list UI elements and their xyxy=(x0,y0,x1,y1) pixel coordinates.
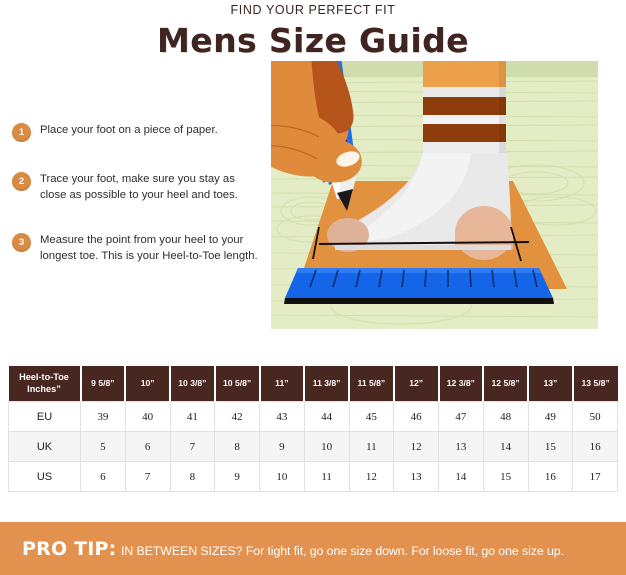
size-guide-page: FIND YOUR PERFECT FIT Mens Size Guide 1 … xyxy=(0,0,626,575)
table-header-cell: 9 5/8” xyxy=(81,366,126,402)
table-body: EU 39 40 41 42 43 44 45 46 47 48 49 50 U… xyxy=(9,402,618,492)
table-cell: 14 xyxy=(439,462,484,492)
size-table: Heel-to-Toe Inches” 9 5/8” 10” 10 3/8” 1… xyxy=(8,366,618,492)
table-cell: 9 xyxy=(260,432,305,462)
instruction-steps: 1 Place your foot on a piece of paper. 2… xyxy=(12,122,262,293)
table-cell: 11 xyxy=(304,462,349,492)
table-cell: 16 xyxy=(573,432,618,462)
pro-tip-label: PRO TIP: xyxy=(22,538,116,560)
table-header-cell: 13 5/8” xyxy=(573,366,618,402)
table-row: UK 5 6 7 8 9 10 11 12 13 14 15 16 xyxy=(9,432,618,462)
table-row: EU 39 40 41 42 43 44 45 46 47 48 49 50 xyxy=(9,402,618,432)
table-cell: 10 xyxy=(304,432,349,462)
page-title: Mens Size Guide xyxy=(0,21,626,60)
pro-tip-body: IN BETWEEN SIZES? For tight fit, go one … xyxy=(121,544,564,558)
table-cell: 13 xyxy=(439,432,484,462)
table-header-cell: 10 5/8” xyxy=(215,366,260,402)
table-header-cell-label: Heel-to-Toe Inches” xyxy=(9,366,81,402)
table-cell: 16 xyxy=(528,462,573,492)
table-cell: 6 xyxy=(125,432,170,462)
pro-tip-content: PRO TIP: IN BETWEEN SIZES? For tight fit… xyxy=(0,538,564,560)
table-cell: 41 xyxy=(170,402,215,432)
table-header-cell: 10” xyxy=(125,366,170,402)
page-header: FIND YOUR PERFECT FIT Mens Size Guide xyxy=(0,0,626,60)
list-item: 2 Trace your foot, make sure you stay as… xyxy=(12,171,262,203)
table-header-cell: 11 5/8” xyxy=(349,366,394,402)
table-cell: 9 xyxy=(215,462,260,492)
list-item: 1 Place your foot on a piece of paper. xyxy=(12,122,262,142)
pro-tip-banner: PRO TIP: IN BETWEEN SIZES? For tight fit… xyxy=(0,522,626,575)
table-cell: 6 xyxy=(81,462,126,492)
row-label-us: US xyxy=(9,462,81,492)
table-header-cell: 10 3/8” xyxy=(170,366,215,402)
table-cell: 13 xyxy=(394,462,439,492)
table-cell: 12 xyxy=(394,432,439,462)
step-text: Trace your foot, make sure you stay as c… xyxy=(40,171,262,203)
row-label-eu: EU xyxy=(9,402,81,432)
table-cell: 47 xyxy=(439,402,484,432)
table-cell: 43 xyxy=(260,402,305,432)
table-header-cell: 13” xyxy=(528,366,573,402)
table-cell: 15 xyxy=(528,432,573,462)
table-row: US 6 7 8 9 10 11 12 13 14 15 16 17 xyxy=(9,462,618,492)
table-cell: 7 xyxy=(170,432,215,462)
table-cell: 48 xyxy=(483,402,528,432)
table-cell: 5 xyxy=(81,432,126,462)
table-cell: 11 xyxy=(349,432,394,462)
table-header-cell: 11” xyxy=(260,366,305,402)
table-cell: 42 xyxy=(215,402,260,432)
table-header-cell: 12 3/8” xyxy=(439,366,484,402)
table-cell: 12 xyxy=(349,462,394,492)
row-label-uk: UK xyxy=(9,432,81,462)
table-header: Heel-to-Toe Inches” 9 5/8” 10” 10 3/8” 1… xyxy=(9,366,618,402)
table-cell: 8 xyxy=(215,432,260,462)
table-cell: 7 xyxy=(125,462,170,492)
table-cell: 15 xyxy=(483,462,528,492)
step-number-badge: 1 xyxy=(12,123,31,142)
table-header-row: Heel-to-Toe Inches” 9 5/8” 10” 10 3/8” 1… xyxy=(9,366,618,402)
table-header-cell: 11 3/8” xyxy=(304,366,349,402)
page-kicker: FIND YOUR PERFECT FIT xyxy=(0,0,626,17)
table-cell: 8 xyxy=(170,462,215,492)
table-cell: 40 xyxy=(125,402,170,432)
table-cell: 17 xyxy=(573,462,618,492)
step-text: Measure the point from your heel to your… xyxy=(40,232,262,264)
step-number-badge: 3 xyxy=(12,233,31,252)
foot-tracing-illustration xyxy=(271,61,598,329)
table-cell: 39 xyxy=(81,402,126,432)
table-cell: 10 xyxy=(260,462,305,492)
list-item: 3 Measure the point from your heel to yo… xyxy=(12,232,262,264)
table-header-cell: 12 5/8” xyxy=(483,366,528,402)
table-cell: 46 xyxy=(394,402,439,432)
table-cell: 50 xyxy=(573,402,618,432)
header-label-line2: Inches” xyxy=(27,384,61,394)
table-cell: 14 xyxy=(483,432,528,462)
table-cell: 49 xyxy=(528,402,573,432)
size-table-container: Heel-to-Toe Inches” 9 5/8” 10” 10 3/8” 1… xyxy=(8,366,618,492)
step-text: Place your foot on a piece of paper. xyxy=(40,122,218,138)
table-cell: 45 xyxy=(349,402,394,432)
header-label-line1: Heel-to-Toe xyxy=(19,372,69,382)
table-cell: 44 xyxy=(304,402,349,432)
table-header-cell: 12” xyxy=(394,366,439,402)
step-number-badge: 2 xyxy=(12,172,31,191)
